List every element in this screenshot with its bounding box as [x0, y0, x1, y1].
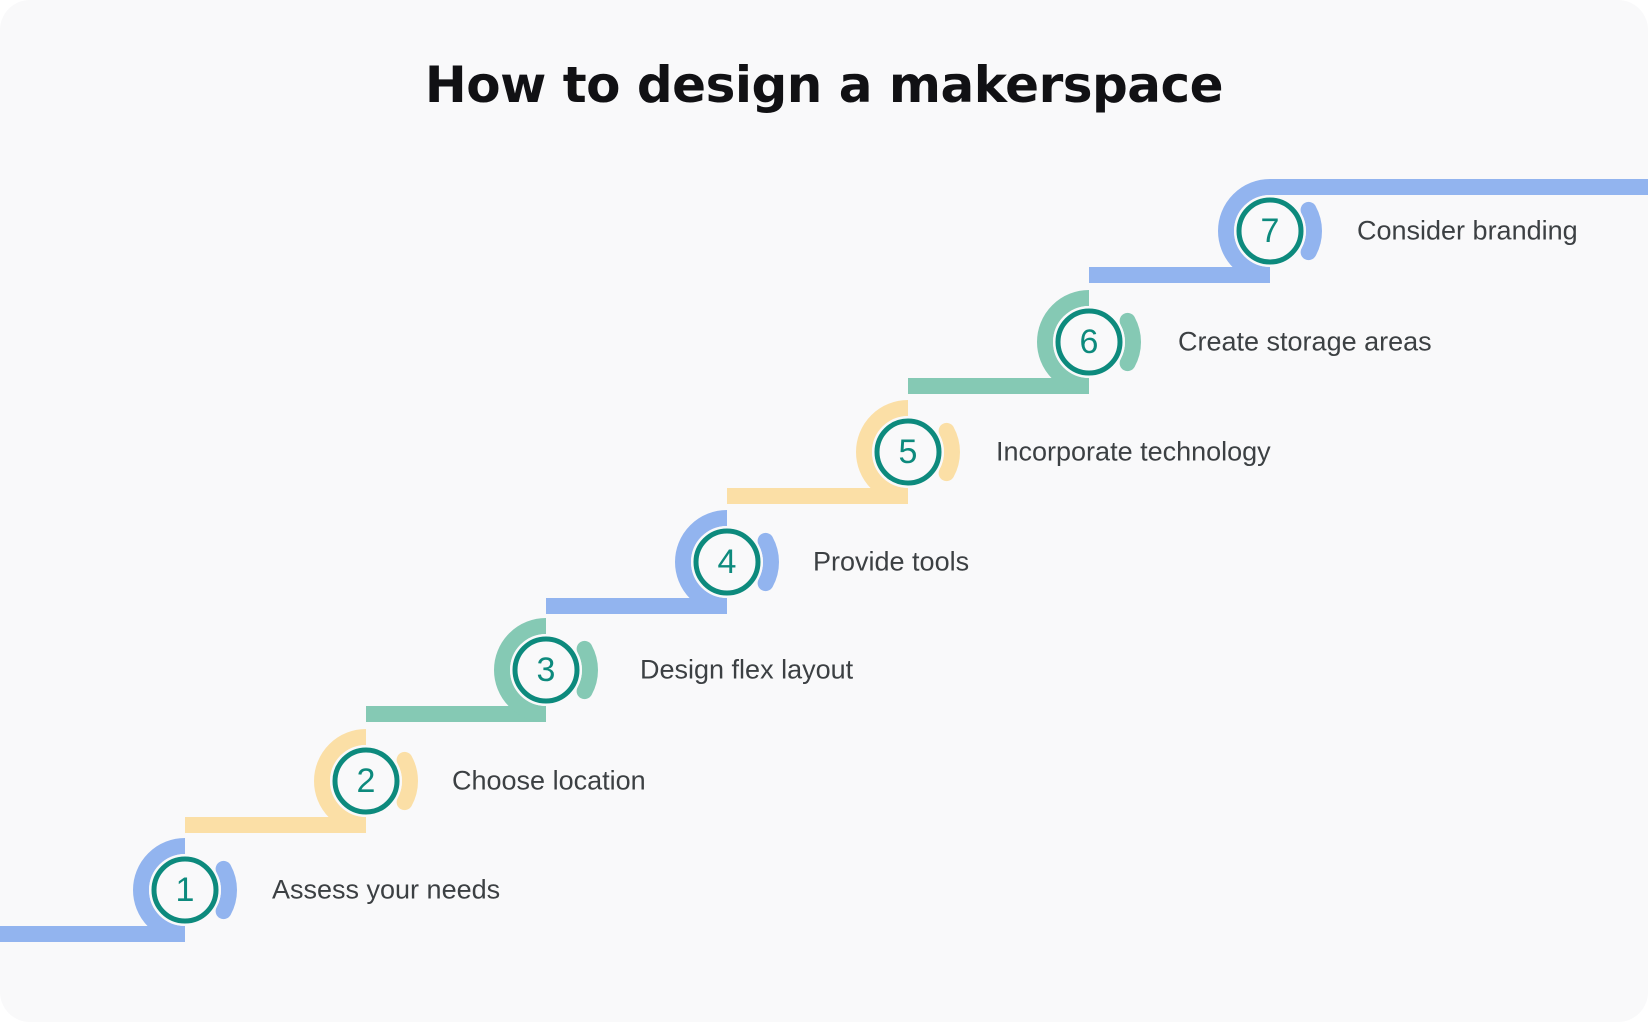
step-label-6: Create storage areas [1178, 327, 1432, 358]
step-ring-cap-6 [1128, 321, 1133, 363]
step-ring-cap-4 [766, 541, 771, 583]
step-ring-cap-1 [224, 869, 229, 911]
step-number-2: 2 [357, 762, 376, 800]
step-label-4: Provide tools [813, 547, 969, 578]
step-ring-cap-7 [1309, 210, 1314, 252]
inner-circle-group: 1234567 [149, 195, 1306, 926]
step-ring-cap-5 [947, 431, 952, 473]
step-label-5: Incorporate technology [996, 437, 1271, 468]
step-number-6: 6 [1080, 323, 1099, 361]
step-ring-cap-2 [405, 760, 410, 802]
step-label-2: Choose location [452, 766, 646, 797]
step-label-1: Assess your needs [272, 875, 500, 906]
step-number-5: 5 [899, 433, 918, 471]
step-ring-cap-3 [585, 649, 590, 691]
step-number-3: 3 [537, 651, 556, 689]
step-number-7: 7 [1261, 212, 1280, 250]
step-number-4: 4 [718, 543, 737, 581]
step-label-7: Consider branding [1357, 216, 1578, 247]
infographic-card: How to design a makerspace 1234567 Asses… [0, 0, 1648, 1022]
staircase-diagram: 1234567 [0, 0, 1648, 1022]
step-number-1: 1 [176, 871, 195, 909]
step-label-3: Design flex layout [640, 655, 853, 686]
